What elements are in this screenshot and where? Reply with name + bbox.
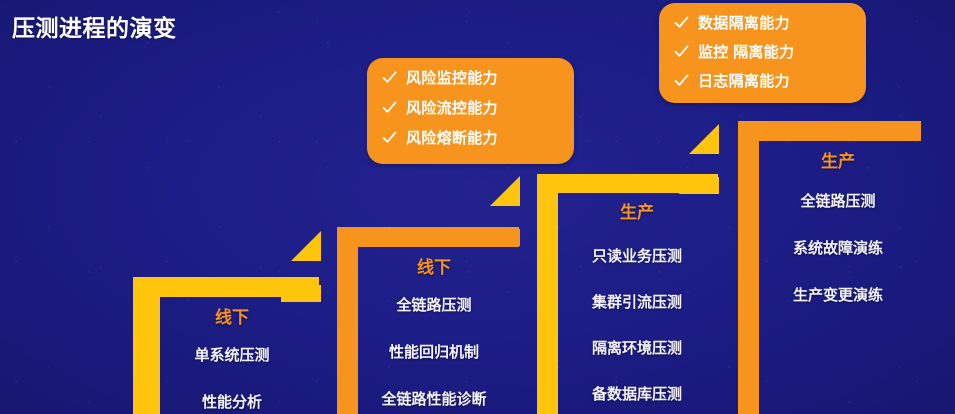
step-4-label: 生产 [821,147,855,172]
callout-2-item-1: 数据隔离能力 [698,12,790,33]
callout-1-row-1: 风险监控能力 [381,67,556,88]
check-icon [673,43,690,60]
step-3-item-4: 备数据库压测 [592,387,682,402]
step-1-item-2: 性能分析 [194,395,269,410]
step-3-item-2: 集群引流压测 [592,295,682,310]
check-icon [381,99,398,116]
slide-canvas: 压测进程的演变 线下 单系统压测 性能分析 线下 全链路压测 性能回归机制 全链… [0,0,955,414]
callout-2-item-3: 日志隔离能力 [698,70,790,91]
step-2-item-2: 性能回归机制 [381,345,486,360]
callout-1-item-2: 风险流控能力 [406,97,498,118]
step-3-items: 只读业务压测 集群引流压测 隔离环境压测 备数据库压测 [592,249,682,402]
callout-2-row-3: 日志隔离能力 [673,70,848,91]
step-1-item-1: 单系统压测 [194,348,269,363]
callout-1-item-3: 风险熔断能力 [406,127,498,148]
step-4-item-3: 生产变更演练 [793,288,883,303]
step-3-riser [537,174,558,414]
check-icon [673,14,690,31]
callout-risk-capabilities: 风险监控能力 风险流控能力 风险熔断能力 [367,58,574,164]
step-4-item-2: 系统故障演练 [793,241,883,256]
step-1-label: 线下 [215,303,249,328]
step-4-riser [738,121,759,414]
step-3-wedge-icon [689,124,719,154]
step-2-riser [337,227,358,414]
step-1-dash [281,285,321,302]
step-2-dash [480,229,520,246]
step-1-riser [133,277,160,414]
callout-1-item-1: 风险监控能力 [406,67,498,88]
step-3-label: 生产 [620,198,654,223]
callout-1-row-2: 风险流控能力 [381,97,556,118]
step-3-item-3: 隔离环境压测 [592,341,682,356]
step-2-item-1: 全链路压测 [381,298,486,313]
callout-2-row-1: 数据隔离能力 [673,12,848,33]
step-2-item-3: 全链路性能诊断 [381,392,486,407]
check-icon [381,129,398,146]
step-3-dash [679,177,719,194]
callout-2-row-2: 监控 隔离能力 [673,41,848,62]
step-1-items: 单系统压测 性能分析 [194,348,269,410]
step-2-wedge-icon [490,176,520,206]
step-4-items: 全链路压测 系统故障演练 生产变更演练 [793,194,883,303]
callout-2-item-2: 监控 隔离能力 [698,41,794,62]
step-2-items: 全链路压测 性能回归机制 全链路性能诊断 [381,298,486,407]
step-3-item-1: 只读业务压测 [592,249,682,264]
step-4-tread [759,121,921,141]
step-4-item-1: 全链路压测 [793,194,883,209]
callout-1-row-3: 风险熔断能力 [381,127,556,148]
check-icon [673,72,690,89]
check-icon [381,69,398,86]
step-1-wedge-icon [291,231,321,261]
step-2-label: 线下 [417,253,451,278]
page-title: 压测进程的演变 [12,9,177,43]
callout-isolation-capabilities: 数据隔离能力 监控 隔离能力 日志隔离能力 [659,3,866,103]
